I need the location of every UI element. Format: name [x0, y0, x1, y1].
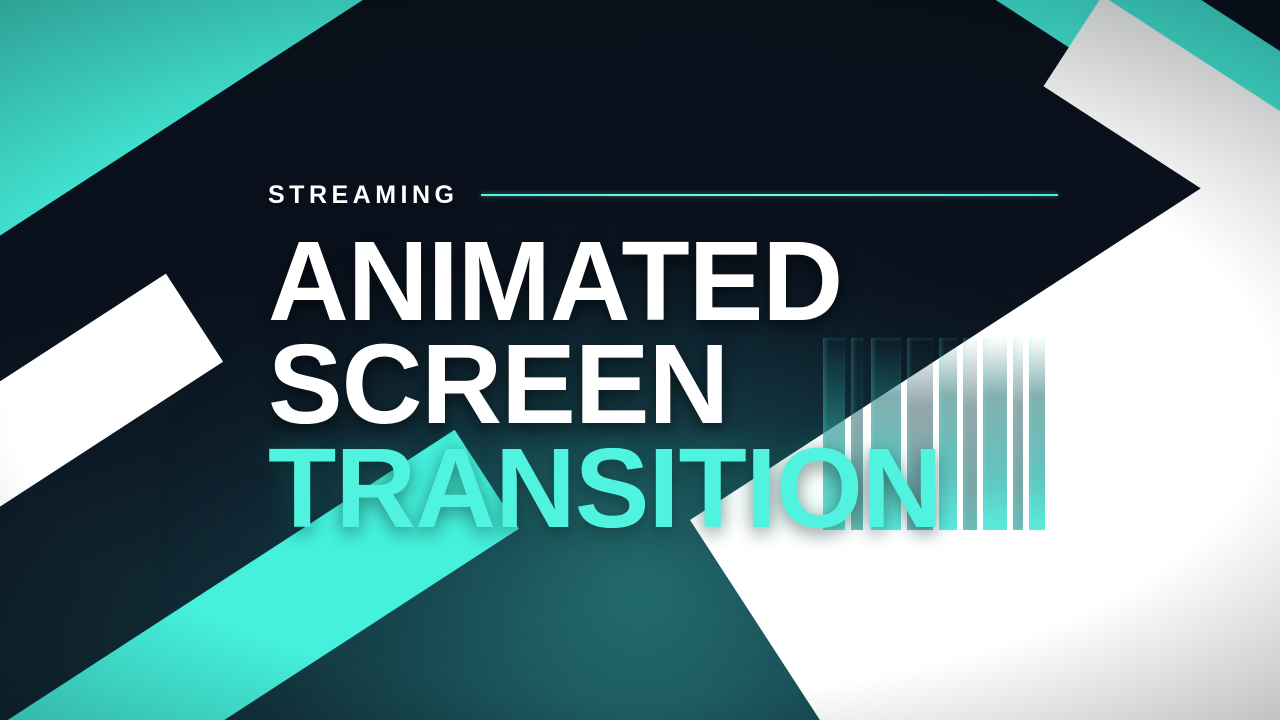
poster-canvas: STREAMING ANIMATED SCREEN TRANSITION	[0, 0, 1280, 720]
headline-line-3: TRANSITION	[268, 439, 1050, 538]
headline-line-1: ANIMATED	[268, 232, 1050, 331]
kicker-row: STREAMING	[268, 180, 1058, 210]
kicker-divider-rule	[481, 194, 1059, 196]
kicker-label: STREAMING	[268, 183, 459, 208]
headline-line-2: SCREEN	[268, 335, 1050, 434]
headline-block: STREAMING ANIMATED SCREEN TRANSITION	[268, 180, 1058, 538]
